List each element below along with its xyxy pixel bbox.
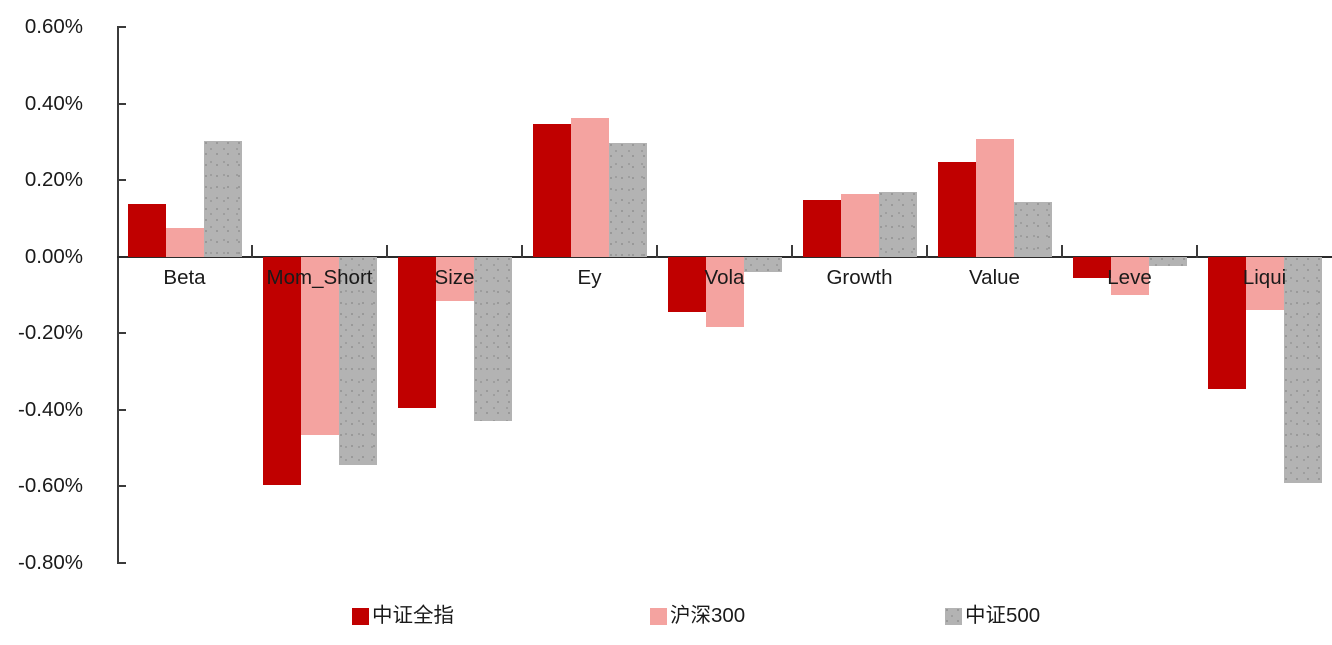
bar-group [387, 27, 522, 563]
legend-label: 中证500 [965, 604, 1040, 628]
bar-vola-series-0 [668, 257, 706, 313]
legend-label: 中证全指 [372, 604, 454, 628]
legend-item-2[interactable]: 中证500 [945, 604, 1040, 628]
bar-group [1062, 27, 1197, 563]
bar-value-series-1 [976, 139, 1014, 257]
legend-item-1[interactable]: 沪深300 [650, 604, 745, 628]
bar-leve-series-2 [1149, 257, 1187, 266]
bar-chart: 0.60%0.40%0.20%0.00%-0.20%-0.40%-0.60%-0… [0, 0, 1332, 645]
bar-size-series-1 [436, 257, 474, 301]
plot-area [117, 27, 1332, 563]
bar-liqui-series-1 [1246, 257, 1284, 311]
bar-liqui-series-0 [1208, 257, 1246, 389]
y-axis-tick-label: -0.60% [18, 476, 83, 497]
bar-group [522, 27, 657, 563]
bar-value-series-0 [938, 162, 976, 257]
legend-swatch-icon [650, 608, 667, 625]
y-axis-tick-label: 0.00% [25, 247, 83, 268]
bar-size-series-2 [474, 257, 512, 422]
bar-liqui-series-2 [1284, 257, 1322, 483]
bar-group [927, 27, 1062, 563]
y-axis-tick-label: -0.40% [18, 400, 83, 421]
bar-beta-series-2 [204, 141, 242, 257]
bar-ey-series-1 [571, 118, 609, 257]
bar-leve-series-1 [1111, 257, 1149, 295]
bar-group [792, 27, 927, 563]
legend-label: 沪深300 [670, 604, 745, 628]
bar-mom_short-series-2 [339, 257, 377, 466]
bar-growth-series-2 [879, 192, 917, 256]
bar-mom_short-series-1 [301, 257, 339, 435]
y-axis-tick-label: -0.80% [18, 553, 83, 574]
bar-group [117, 27, 252, 563]
bar-growth-series-0 [803, 200, 841, 257]
bar-group [252, 27, 387, 563]
legend-swatch-icon [945, 608, 962, 625]
bar-beta-series-1 [166, 228, 204, 257]
bar-leve-series-0 [1073, 257, 1111, 278]
bar-size-series-0 [398, 257, 436, 408]
y-axis-tick-label: 0.60% [25, 17, 83, 38]
y-axis-tick-label: -0.20% [18, 323, 83, 344]
legend-swatch-icon [352, 608, 369, 625]
bar-value-series-2 [1014, 202, 1052, 257]
bar-group [657, 27, 792, 563]
y-axis-tick-label: 0.40% [25, 94, 83, 115]
bar-vola-series-1 [706, 257, 744, 327]
bar-ey-series-0 [533, 124, 571, 257]
chart-legend: 中证全指沪深300中证500 [0, 604, 1332, 638]
y-axis-tick-label: 0.20% [25, 170, 83, 191]
bar-ey-series-2 [609, 143, 647, 257]
bar-mom_short-series-0 [263, 257, 301, 485]
bar-vola-series-2 [744, 257, 782, 272]
bar-beta-series-0 [128, 204, 166, 257]
bar-growth-series-1 [841, 194, 879, 257]
legend-item-0[interactable]: 中证全指 [352, 604, 454, 628]
bar-group [1197, 27, 1332, 563]
